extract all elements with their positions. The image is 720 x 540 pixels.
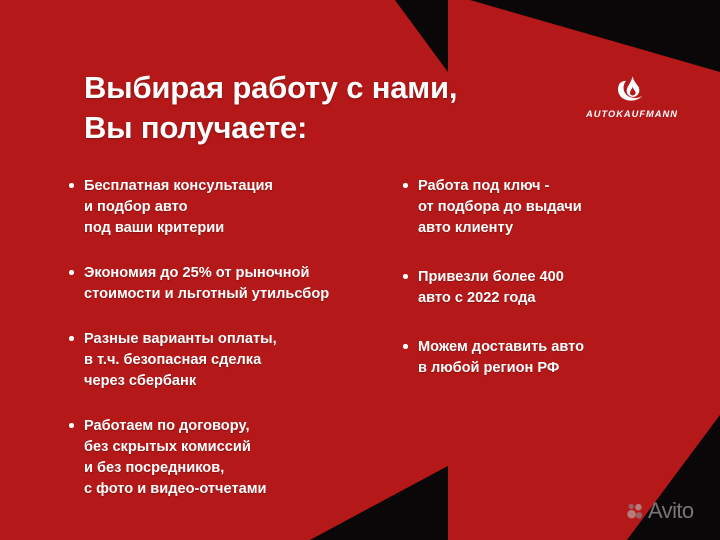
list-item-line: в т.ч. безопасная сделка bbox=[84, 350, 408, 371]
bullet-dot-icon bbox=[69, 270, 74, 275]
list-item-line: авто с 2022 года bbox=[418, 288, 702, 309]
bullet-dot-icon bbox=[403, 183, 408, 188]
list-item-line: Привезли более 400 bbox=[418, 267, 702, 288]
list-item-line: с фото и видео-отчетами bbox=[84, 479, 408, 500]
list-item-line: и без посредников, bbox=[84, 458, 408, 479]
list-item-line: стоимости и льготный утильсбор bbox=[84, 284, 408, 305]
list-item-line: авто клиенту bbox=[418, 218, 702, 239]
list-item-line: под ваши критерии bbox=[84, 218, 408, 239]
bullet-dot-icon bbox=[403, 344, 408, 349]
list-item-line: Бесплатная консультация bbox=[84, 176, 408, 197]
bullet-dot-icon bbox=[69, 183, 74, 188]
black-triangle-top-right bbox=[470, 0, 720, 72]
list-item: Работа под ключ - от подбора до выдачи а… bbox=[402, 176, 702, 239]
avito-watermark: Avito bbox=[627, 500, 694, 522]
list-item: Работаем по договору, без скрытых комисс… bbox=[68, 416, 408, 500]
list-item-line: от подбора до выдачи bbox=[418, 197, 702, 218]
avito-label: Avito bbox=[648, 500, 694, 522]
benefits-section: Бесплатная консультация и подбор авто по… bbox=[0, 176, 720, 506]
headline-line-2: Вы получаете: bbox=[84, 108, 584, 148]
bullet-dot-icon bbox=[403, 274, 408, 279]
bullet-dot-icon bbox=[69, 336, 74, 341]
benefits-column-left: Бесплатная консультация и подбор авто по… bbox=[68, 176, 408, 500]
list-item-line: без скрытых комиссий bbox=[84, 437, 408, 458]
logo-wordmark: AUTOKAUFMANN bbox=[586, 110, 678, 119]
list-item-line: Разные варианты оплаты, bbox=[84, 329, 408, 350]
benefits-column-right: Работа под ключ - от подбора до выдачи а… bbox=[402, 176, 702, 407]
page-title: Выбирая работу с нами, Вы получаете: bbox=[84, 68, 584, 149]
list-item-line: Экономия до 25% от рыночной bbox=[84, 263, 408, 284]
list-item-line: в любой регион РФ bbox=[418, 358, 702, 379]
brand-logo: AUTOKAUFMANN bbox=[586, 74, 678, 119]
avito-dots-icon bbox=[627, 503, 644, 520]
list-item-line: Можем доставить авто bbox=[418, 337, 702, 358]
promo-banner: Выбирая работу с нами, Вы получаете: AUT… bbox=[0, 0, 720, 540]
list-item: Привезли более 400 авто с 2022 года bbox=[402, 267, 702, 309]
list-item: Можем доставить авто в любой регион РФ bbox=[402, 337, 702, 379]
flame-swoosh-icon bbox=[615, 74, 649, 106]
list-item-line: через сбербанк bbox=[84, 371, 408, 392]
list-item: Экономия до 25% от рыночной стоимости и … bbox=[68, 263, 408, 305]
headline-line-1: Выбирая работу с нами, bbox=[84, 70, 457, 105]
list-item-line: Работаем по договору, bbox=[84, 416, 408, 437]
bullet-dot-icon bbox=[69, 423, 74, 428]
list-item-line: и подбор авто bbox=[84, 197, 408, 218]
list-item: Разные варианты оплаты, в т.ч. безопасна… bbox=[68, 329, 408, 392]
list-item: Бесплатная консультация и подбор авто по… bbox=[68, 176, 408, 239]
list-item-line: Работа под ключ - bbox=[418, 176, 702, 197]
